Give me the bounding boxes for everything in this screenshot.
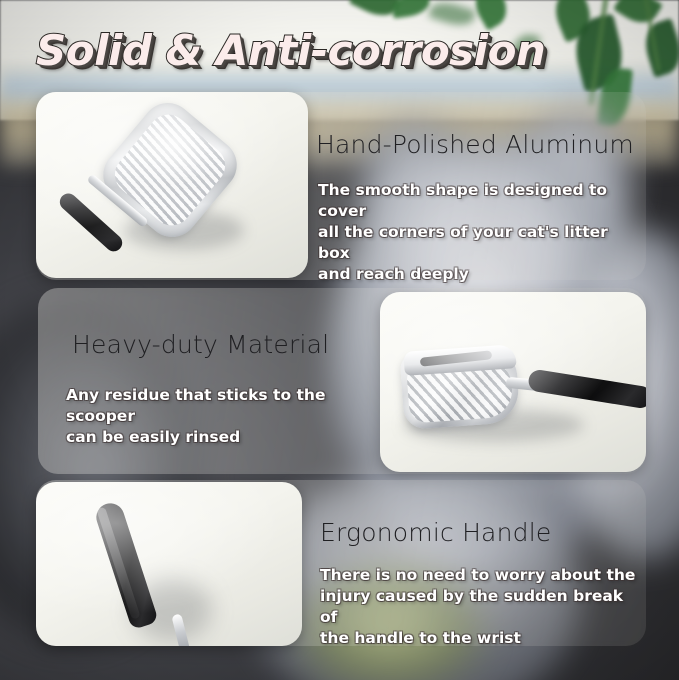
product-infographic: Solid & Anti-corrosion Hand-Polished Alu…	[0, 0, 679, 680]
card-body-text: There is no need to worry about the inju…	[320, 565, 638, 649]
poster-title: Solid & Anti-corrosion	[36, 26, 545, 75]
card-heading: Hand-Polished Aluminum	[316, 130, 634, 159]
scoop-top-view-image	[36, 92, 308, 278]
card-photo-panel	[36, 92, 308, 278]
card-heading: Ergonomic Handle	[320, 518, 551, 547]
card-body-text: The smooth shape is designed to cover al…	[318, 180, 628, 285]
card-body-text: Any residue that sticks to the scooper c…	[66, 385, 386, 448]
scoop-side-view-image	[380, 292, 646, 472]
handle-closeup-image	[36, 482, 302, 646]
card-heading: Heavy-duty Material	[72, 330, 329, 359]
card-photo-panel	[36, 482, 302, 646]
card-photo-panel	[380, 292, 646, 472]
